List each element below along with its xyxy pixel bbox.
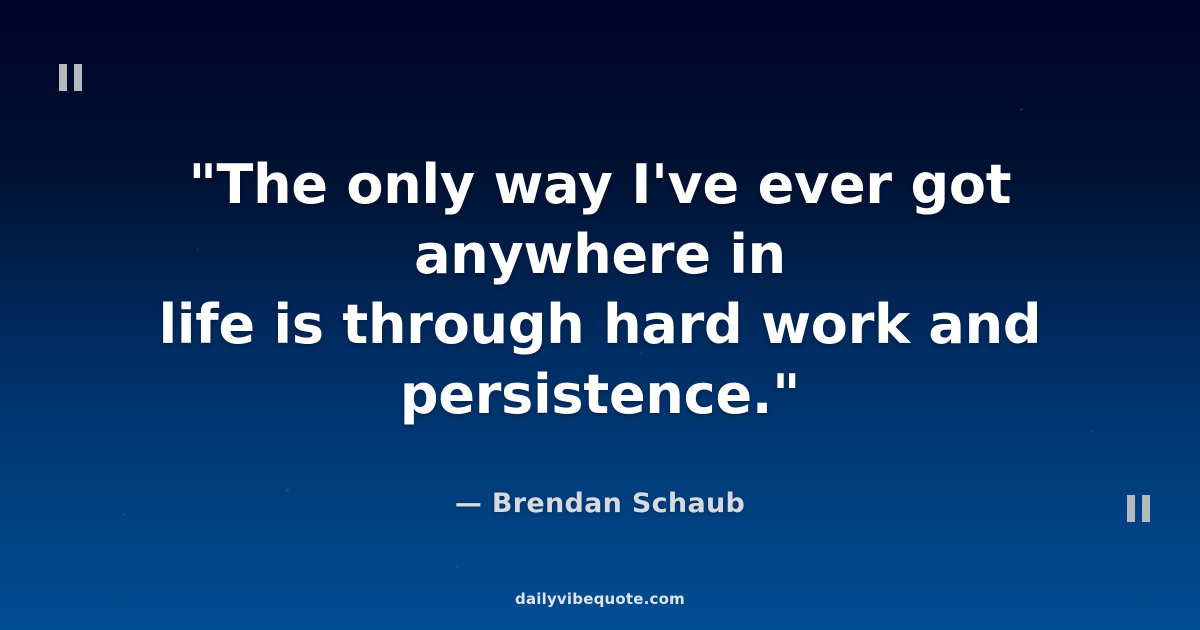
particle-dot xyxy=(455,566,458,569)
site-watermark: dailyvibequote.com xyxy=(0,590,1200,608)
particle-dot xyxy=(1020,108,1023,111)
quote-bar-right xyxy=(74,64,82,91)
quote-mark-icon-close xyxy=(1127,495,1150,522)
particle-dot xyxy=(340,92,342,94)
quote-text: "The only way I've ever got anywhere in … xyxy=(40,150,1160,430)
quote-content: "The only way I've ever got anywhere in … xyxy=(0,150,1200,519)
quote-mark-icon-open xyxy=(59,64,82,91)
quote-attribution: — Brendan Schaub xyxy=(40,430,1160,519)
quote-bar-right xyxy=(1142,495,1150,522)
quote-bar-left xyxy=(59,64,67,91)
quote-card: "The only way I've ever got anywhere in … xyxy=(0,0,1200,630)
quote-bar-left xyxy=(1127,495,1135,522)
